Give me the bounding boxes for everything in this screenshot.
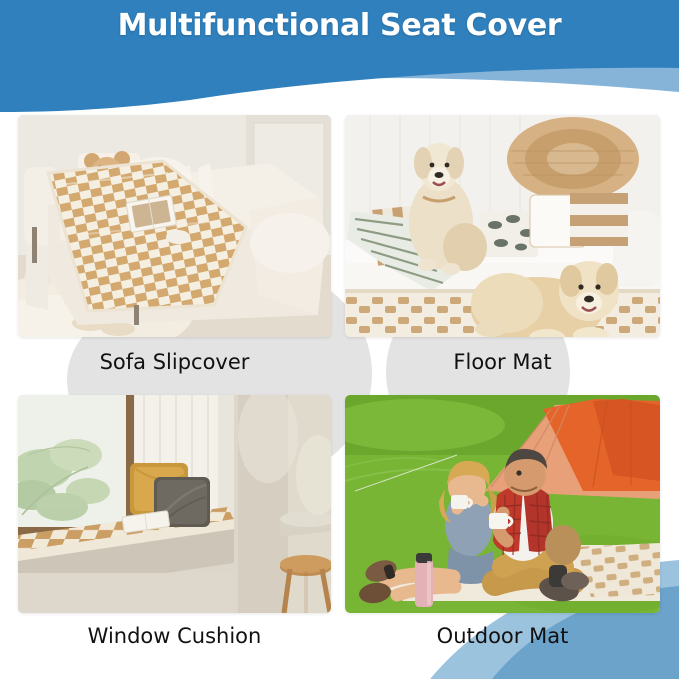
panel-outdoor-mat[interactable]: [345, 395, 660, 613]
page-title: Multifunctional Seat Cover: [0, 8, 679, 43]
panel-window-cushion[interactable]: [18, 395, 331, 613]
photo-outdoor-mat: [345, 395, 660, 613]
header-banner: Multifunctional Seat Cover: [0, 0, 679, 112]
panel-sofa-slipcover[interactable]: [18, 115, 331, 337]
caption-sofa-slipcover: Sofa Slipcover: [18, 350, 331, 374]
caption-floor-mat: Floor Mat: [345, 350, 660, 374]
panel-floor-mat[interactable]: [345, 115, 660, 337]
caption-outdoor-mat: Outdoor Mat: [345, 624, 660, 648]
infographic-page: Multifunctional Seat Cover: [0, 0, 679, 679]
photo-window-cushion: [18, 395, 331, 613]
caption-window-cushion: Window Cushion: [18, 624, 331, 648]
photo-sofa-slipcover: [18, 115, 331, 337]
photo-floor-mat: [345, 115, 660, 337]
